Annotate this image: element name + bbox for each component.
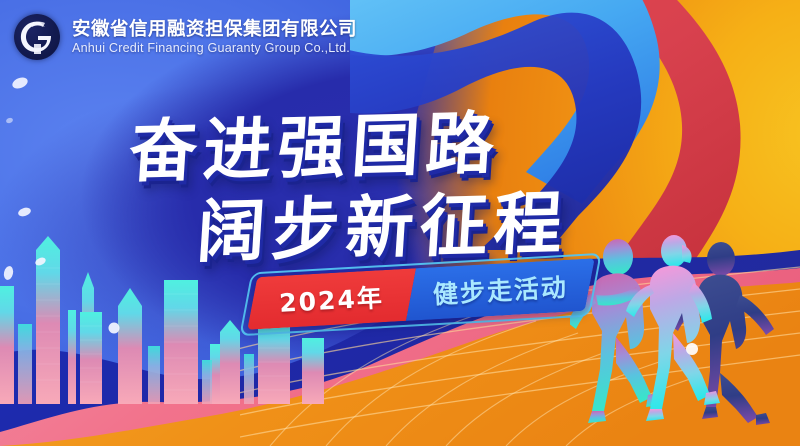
company-name-block: 安徽省信用融资担保集团有限公司 Anhui Credit Financing G… (72, 19, 357, 56)
subtitle-year-label: 2024年 (278, 278, 384, 320)
subtitle-bar: 2024年 健步走活动 (251, 259, 591, 330)
brand-header: 安徽省信用融资担保集团有限公司 Anhui Credit Financing G… (14, 14, 357, 60)
company-name-en: Anhui Credit Financing Guaranty Group Co… (72, 42, 357, 56)
company-name-cn: 安徽省信用融资担保集团有限公司 (72, 19, 357, 39)
runner-silhouettes-graphic (570, 221, 800, 446)
promotional-banner: 安徽省信用融资担保集团有限公司 Anhui Credit Financing G… (0, 0, 800, 446)
subtitle-event-label: 健步走活动 (432, 268, 569, 311)
subtitle-event-segment: 健步走活动 (406, 258, 595, 321)
company-logo-icon (14, 14, 60, 60)
subtitle-year-segment: 2024年 (247, 268, 416, 330)
